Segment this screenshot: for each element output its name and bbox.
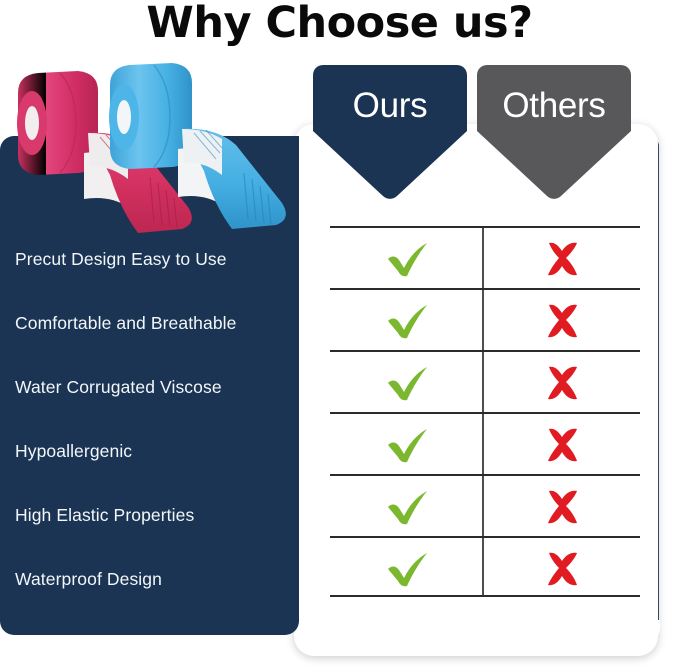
blue-tape-strip	[178, 129, 286, 229]
table-row	[330, 476, 640, 538]
feature-label: Water Corrugated Viscose	[15, 377, 295, 398]
feature-label: Hypoallergenic	[15, 441, 295, 462]
cell-others	[485, 290, 640, 352]
check-icon	[385, 549, 431, 589]
comparison-grid	[330, 226, 640, 597]
cell-others	[485, 538, 640, 600]
cell-ours	[330, 538, 485, 600]
column-header-ours: Ours	[313, 65, 467, 200]
page-title: Why Choose us?	[0, 0, 679, 48]
cell-ours	[330, 476, 485, 538]
cell-others	[485, 476, 640, 538]
ours-label: Ours	[313, 86, 467, 126]
feature-label: Waterproof Design	[15, 569, 295, 590]
table-row	[330, 414, 640, 476]
table-row	[330, 228, 640, 290]
cell-ours	[330, 228, 485, 290]
card-edge-cap	[646, 620, 660, 642]
cell-ours	[330, 290, 485, 352]
feature-label: Comfortable and Breathable	[15, 313, 295, 334]
tape-rolls-illustration	[2, 57, 298, 233]
cross-icon	[543, 487, 583, 527]
check-icon	[385, 425, 431, 465]
check-icon	[385, 239, 431, 279]
cell-others	[485, 414, 640, 476]
feature-label: High Elastic Properties	[15, 505, 295, 526]
cell-ours	[330, 352, 485, 414]
feature-label: Precut Design Easy to Use	[15, 249, 295, 270]
cross-icon	[543, 363, 583, 403]
cross-icon	[543, 239, 583, 279]
cell-ours	[330, 414, 485, 476]
check-icon	[385, 487, 431, 527]
cross-icon	[543, 425, 583, 465]
table-row	[330, 538, 640, 600]
table-row	[330, 352, 640, 414]
cell-others	[485, 228, 640, 290]
cross-icon	[543, 549, 583, 589]
others-label: Others	[477, 86, 631, 126]
kinesiology-tape-rolls-image	[2, 57, 298, 233]
cross-icon	[543, 301, 583, 341]
column-header-others: Others	[477, 65, 631, 200]
table-row	[330, 290, 640, 352]
check-icon	[385, 301, 431, 341]
check-icon	[385, 363, 431, 403]
infographic-canvas: Why Choose us? Precut Design Easy to Use…	[0, 0, 679, 667]
cell-others	[485, 352, 640, 414]
